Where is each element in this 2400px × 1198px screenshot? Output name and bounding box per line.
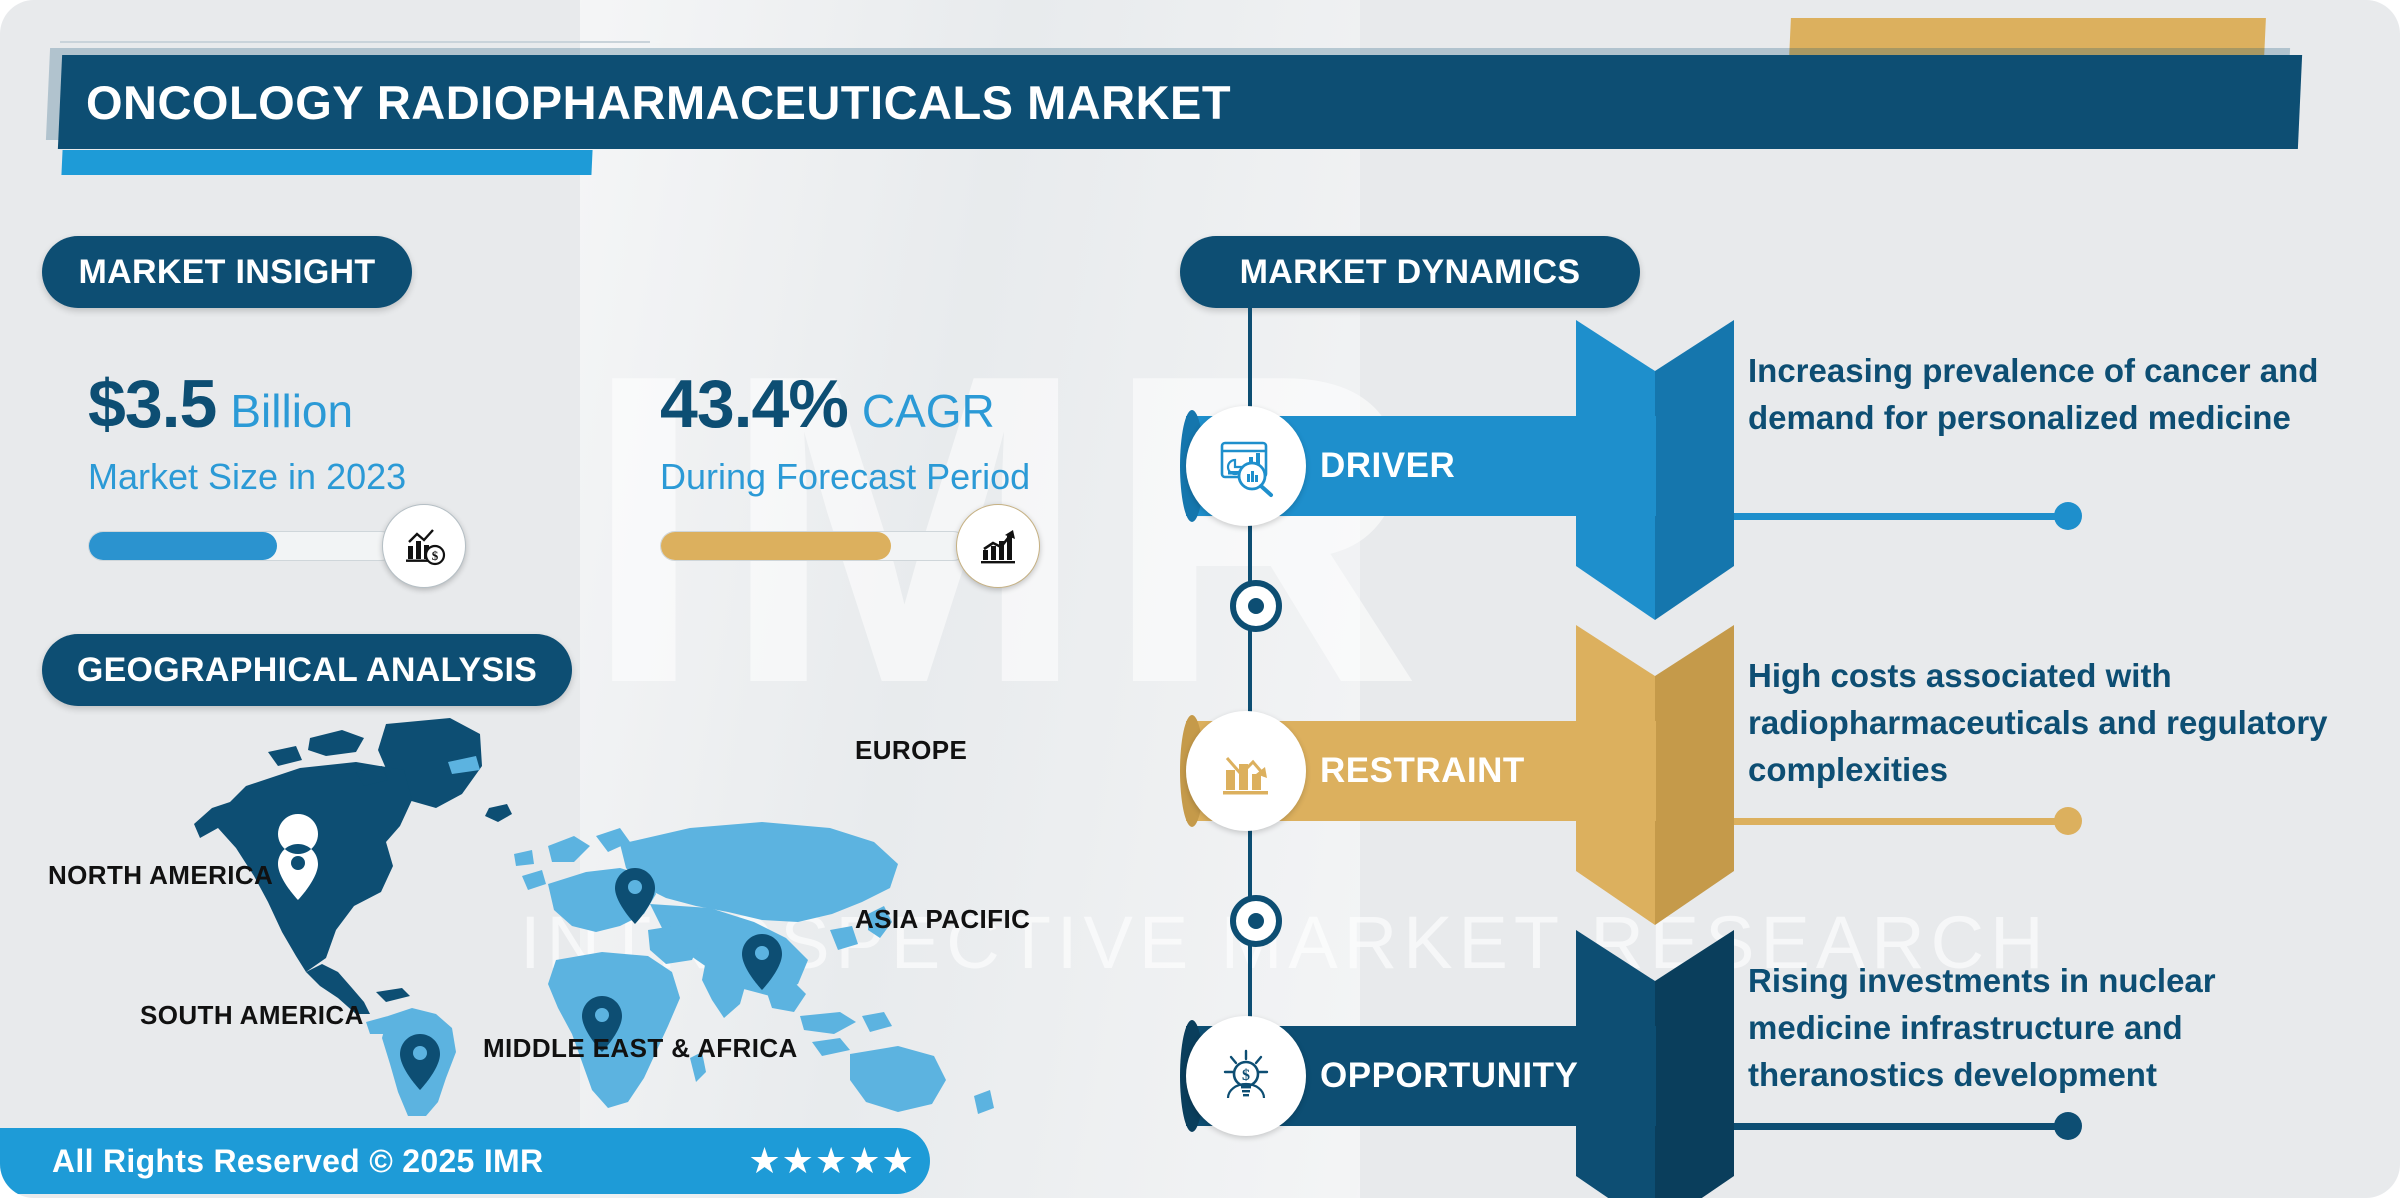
market-dynamics-label: MARKET DYNAMICS <box>1240 253 1581 292</box>
lightbulb-dollar-icon: $ <box>1186 1016 1306 1136</box>
stat-market-size-unit: Billion <box>216 385 353 437</box>
header-rule <box>60 41 650 43</box>
map-label-europe: EUROPE <box>855 735 967 766</box>
stat-cagr-top: 43.4%CAGR <box>660 370 1220 438</box>
driver-lead-dot <box>2054 502 2082 530</box>
map-label-north-america: NORTH AMERICA <box>48 860 273 891</box>
driver-label: DRIVER <box>1320 416 1455 516</box>
restraint-description: High costs associated with radiopharmace… <box>1748 653 2348 794</box>
opportunity-bar[interactable]: $ OPPORTUNITY <box>1186 1026 1656 1126</box>
dynamics-row-opportunity: $ OPPORTUNITY Rising investments in nucl… <box>1186 930 2376 1198</box>
stat-cagr-subtitle: During Forecast Period <box>660 456 1220 498</box>
stat-market-size: $3.5Billion Market Size in 2023 <box>88 370 608 498</box>
svg-text:$: $ <box>432 548 439 563</box>
cagr-progress-track <box>660 531 968 561</box>
dynamics-row-driver: DRIVER Increasing prevalence of cancer a… <box>1186 320 2376 620</box>
restraint-lead-dot <box>2054 807 2082 835</box>
driver-lead-line <box>1734 513 2064 520</box>
header-underline-accent <box>61 150 592 175</box>
geographical-analysis-pill: GEOGRAPHICAL ANALYSIS <box>42 634 572 706</box>
growth-chart-arrow-icon <box>956 504 1040 588</box>
svg-text:$: $ <box>1242 1067 1250 1084</box>
rating-stars: ★★★★★ <box>748 1140 914 1182</box>
stat-cagr-value: 43.4% <box>660 366 848 442</box>
page-title: ONCOLOGY RADIOPHARMACEUTICALS MARKET <box>70 55 2274 149</box>
declining-bar-chart-icon <box>1186 711 1306 831</box>
market-dynamics-pill: MARKET DYNAMICS <box>1180 236 1640 308</box>
stat-cagr-unit: CAGR <box>848 385 995 437</box>
map-label-middle-east-africa: MIDDLE EAST & AFRICA <box>483 1033 798 1064</box>
stat-cagr: 43.4%CAGR During Forecast Period <box>660 370 1220 498</box>
stat-market-size-value: $3.5 <box>88 366 216 442</box>
market-size-progress-track <box>88 531 396 561</box>
footer-bar: All Rights Reserved © 2025 IMR ★★★★★ <box>0 1128 930 1194</box>
opportunity-lead-line <box>1734 1123 2064 1130</box>
map-label-asia-pacific: ASIA PACIFIC <box>855 904 1030 935</box>
driver-description: Increasing prevalence of cancer and dema… <box>1748 348 2348 442</box>
stat-market-size-subtitle: Market Size in 2023 <box>88 456 608 498</box>
map-label-south-america: SOUTH AMERICA <box>140 1000 364 1031</box>
restraint-lead-line <box>1734 818 2064 825</box>
restraint-bar[interactable]: RESTRAINT <box>1186 721 1656 821</box>
copyright-text: All Rights Reserved © 2025 IMR <box>52 1143 543 1180</box>
bar-chart-dollar-icon: $ <box>382 504 466 588</box>
opportunity-label: OPPORTUNITY <box>1320 1026 1578 1126</box>
market-insight-pill: MARKET INSIGHT <box>42 236 412 308</box>
geographical-analysis-label: GEOGRAPHICAL ANALYSIS <box>77 651 537 690</box>
market-insight-label: MARKET INSIGHT <box>79 253 376 292</box>
infographic-page: IMR INTROSPECTIVE MARKET RESEARCH ONCOLO… <box>0 0 2400 1198</box>
market-size-progress-fill <box>89 532 277 560</box>
page-title-text: ONCOLOGY RADIOPHARMACEUTICALS MARKET <box>72 75 1231 130</box>
cagr-progress-fill <box>661 532 891 560</box>
dynamics-row-restraint: RESTRAINT High costs associated with rad… <box>1186 625 2376 925</box>
opportunity-description: Rising investments in nuclear medicine i… <box>1748 958 2348 1099</box>
driver-bar[interactable]: DRIVER <box>1186 416 1656 516</box>
restraint-label: RESTRAINT <box>1320 721 1525 821</box>
analytics-magnifier-icon <box>1186 406 1306 526</box>
stat-market-size-top: $3.5Billion <box>88 370 608 438</box>
opportunity-lead-dot <box>2054 1112 2082 1140</box>
